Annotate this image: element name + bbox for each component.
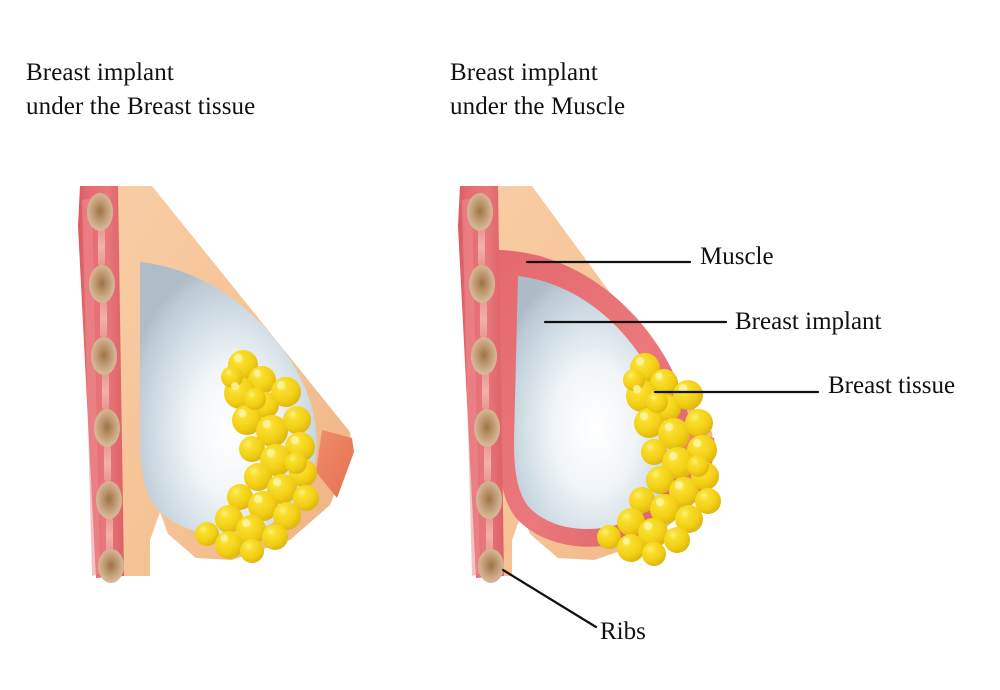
rib: [91, 337, 117, 375]
leader-line-ribs: [503, 570, 596, 627]
rib: [94, 409, 120, 447]
rib: [478, 549, 504, 583]
rib: [474, 409, 500, 447]
panel-left-anatomy: [78, 186, 354, 583]
rib: [96, 481, 122, 519]
rib: [89, 265, 115, 303]
anatomy-svg: [0, 0, 1000, 690]
panel-right-anatomy: [458, 186, 818, 627]
rib: [471, 337, 497, 375]
rib: [469, 265, 495, 303]
illustration-canvas: Breast implantunder the Breast tissue Br…: [0, 0, 1000, 690]
rib: [476, 481, 502, 519]
rib: [467, 193, 493, 231]
rib: [98, 549, 124, 583]
rib: [87, 193, 113, 231]
